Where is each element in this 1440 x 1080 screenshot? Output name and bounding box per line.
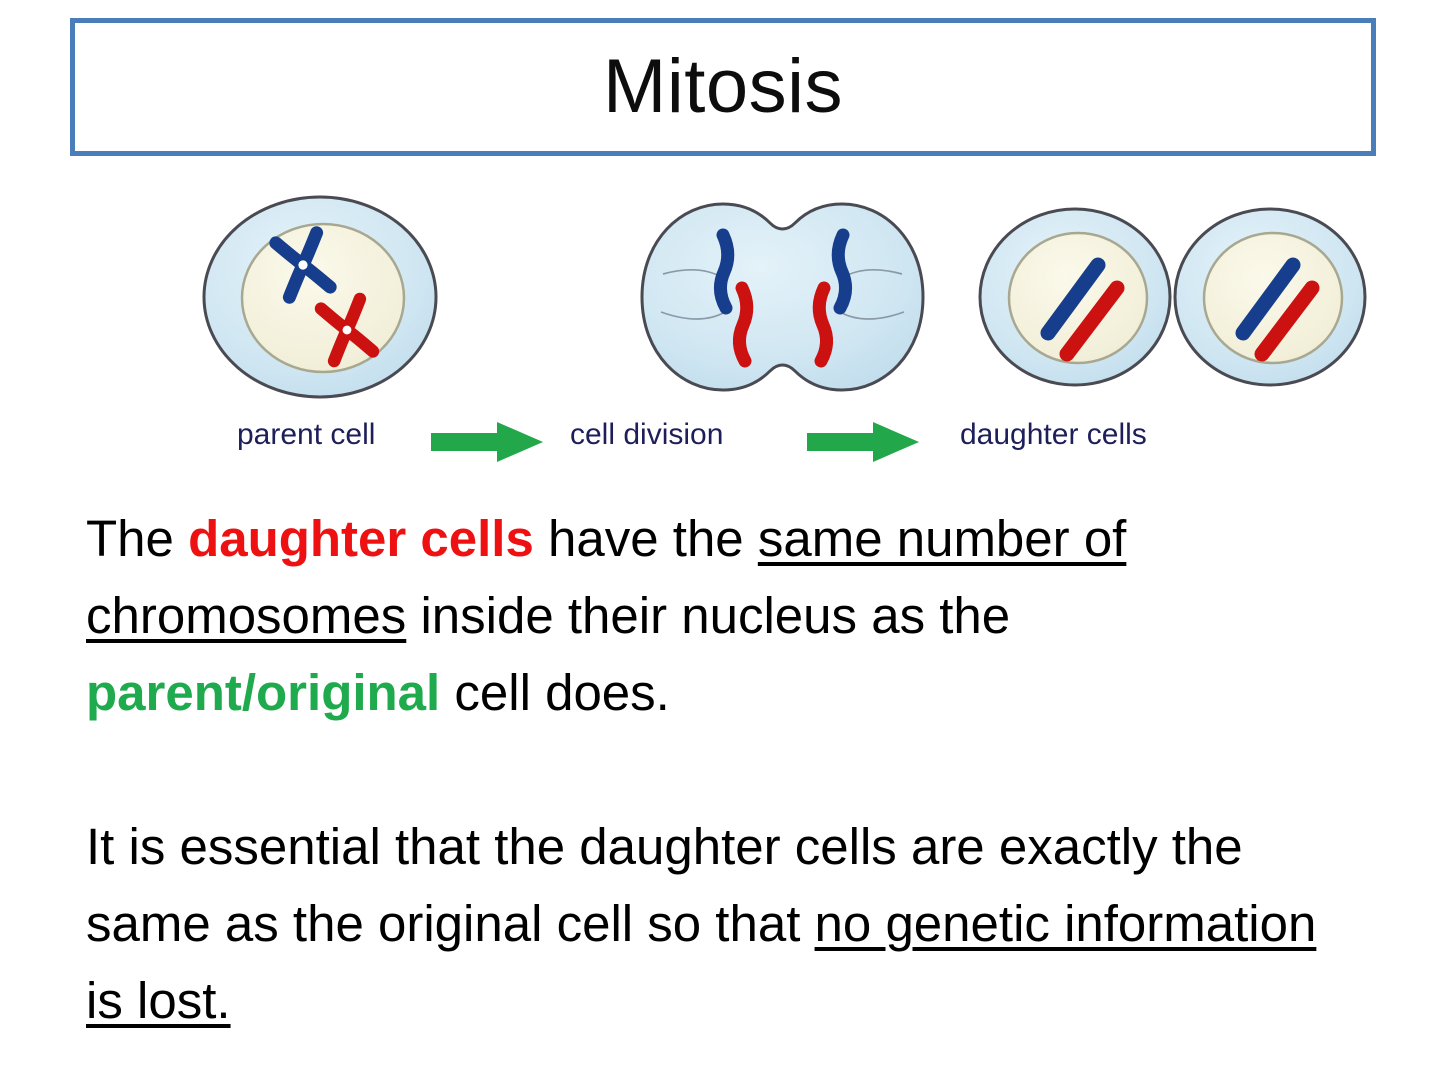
label-daughter-cells: daughter cells <box>960 418 1147 452</box>
title-box: Mitosis <box>70 18 1376 156</box>
p1-seg1: The <box>86 510 188 567</box>
page-title: Mitosis <box>603 49 843 125</box>
right-arrow-icon <box>807 420 921 464</box>
arrow-parent-to-division <box>431 420 545 464</box>
stage-daughter-cells <box>980 209 1365 385</box>
mitosis-diagram: parent cell cell division daughter cells <box>195 192 1295 482</box>
label-cell-division: cell division <box>570 418 723 452</box>
cell-stages-row <box>195 192 1295 407</box>
division-chromosome-red-right <box>819 288 826 361</box>
p1-seg3: have the <box>534 510 758 567</box>
stage-labels-row: parent cell cell division daughter cells <box>195 404 1295 476</box>
division-chromosome-blue-right <box>838 235 845 308</box>
label-parent-cell: parent cell <box>237 418 375 452</box>
p1-seg5: inside their nucleus as the <box>406 587 1010 644</box>
right-arrow-icon <box>431 420 545 464</box>
parent-cell-nucleus <box>242 224 404 372</box>
cell-stages-illustration <box>195 192 1295 407</box>
p1-seg7: cell does. <box>440 664 670 721</box>
slide-body-text: The daughter cells have the same number … <box>86 500 1366 1039</box>
p1-highlight-daughter-cells: daughter cells <box>188 510 534 567</box>
stage-cell-division <box>642 204 923 390</box>
division-chromosome-blue-left <box>720 235 727 308</box>
division-chromosome-red-left <box>739 288 746 361</box>
dividing-cell-membrane <box>642 204 923 390</box>
paragraph-1: The daughter cells have the same number … <box>86 500 1366 731</box>
daughter-cell-2 <box>1175 209 1365 385</box>
p1-highlight-parent-original: parent/original <box>86 664 440 721</box>
daughter-cell-1 <box>980 209 1170 385</box>
arrow-division-to-daughter <box>807 420 921 464</box>
stage-parent-cell <box>204 197 436 397</box>
paragraph-2: It is essential that the daughter cells … <box>86 808 1366 1039</box>
